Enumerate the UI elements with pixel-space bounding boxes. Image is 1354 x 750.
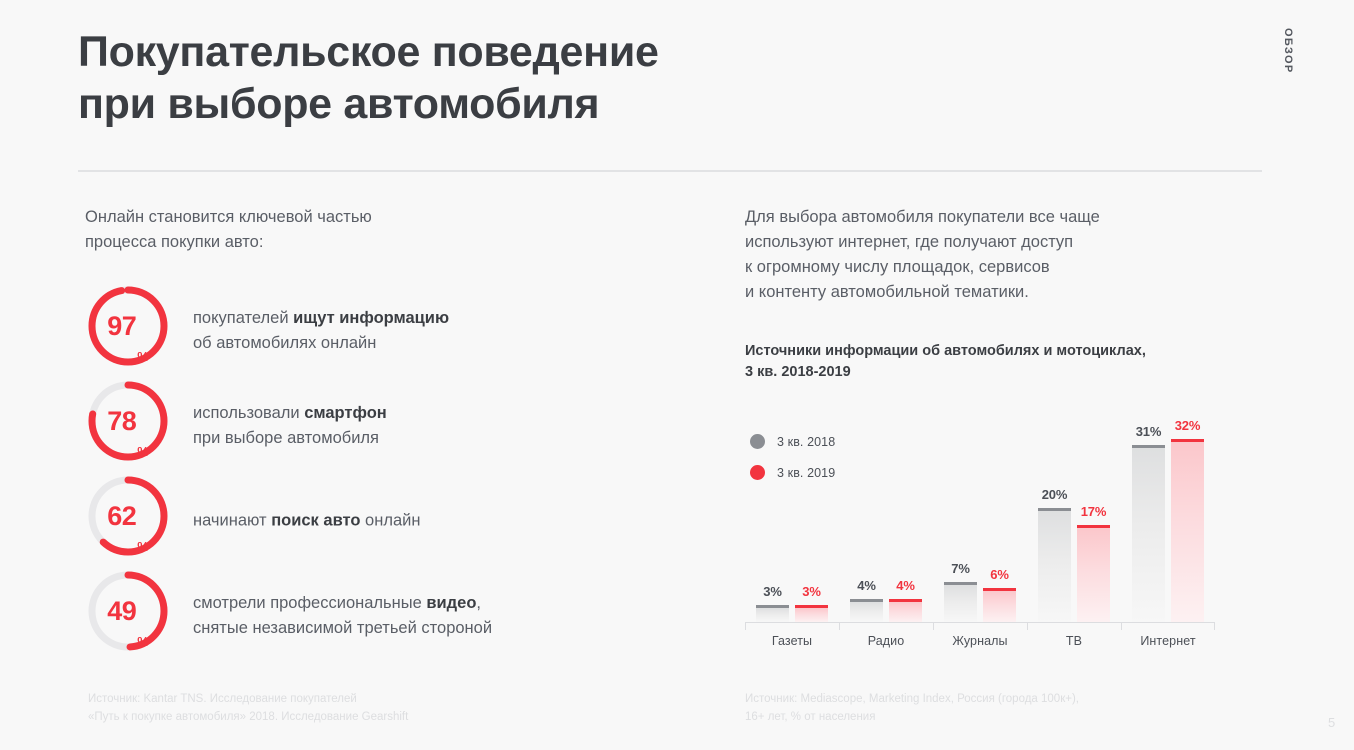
bar-value-label: 20%: [1031, 487, 1078, 502]
bar: 3%: [756, 605, 789, 622]
page-title: Покупательское поведение при выборе авто…: [78, 26, 978, 130]
stat-description: смотрели профессиональные видео,снятые н…: [193, 591, 693, 641]
bar-group: 4%4%: [839, 398, 933, 622]
right-column: Для выбора автомобиля покупатели все чащ…: [745, 205, 1265, 305]
bar: 6%: [983, 588, 1016, 622]
header-divider: [78, 170, 1262, 172]
ring-percent-symbol: %: [137, 349, 149, 364]
x-axis-tick: [839, 622, 840, 630]
stat-description: начинают поиск авто онлайн: [193, 508, 693, 533]
bar-body: [944, 585, 977, 622]
ring-label: 78%: [85, 378, 171, 464]
left-column: Онлайн становится ключевой частью процес…: [85, 205, 685, 255]
bar-body: [1132, 448, 1165, 622]
ring-label: 97%: [85, 283, 171, 369]
bar-body: [983, 591, 1016, 622]
bar-body: [1038, 511, 1071, 622]
ring-label: 49%: [85, 568, 171, 654]
bar-chart: 3 кв. 20183 кв. 2019 3%3%4%4%7%6%20%17%3…: [745, 398, 1215, 653]
x-axis-tick: [1214, 622, 1215, 630]
category-label: Радио: [839, 634, 933, 648]
bar-body: [850, 602, 883, 622]
ring-percent-symbol: %: [137, 444, 149, 459]
section-tag: ОБЗОР: [1282, 28, 1294, 73]
stats-list: 97%покупателей ищут информациюоб автомоб…: [85, 283, 705, 663]
bar-cap: [795, 605, 828, 608]
x-axis-tick: [1027, 622, 1028, 630]
ring-value: 49: [107, 596, 136, 627]
stat-row: 62%начинают поиск авто онлайн: [85, 473, 705, 568]
bar-cap: [850, 599, 883, 602]
stat-row: 97%покупателей ищут информациюоб автомоб…: [85, 283, 705, 378]
bar-group: 20%17%: [1027, 398, 1121, 622]
bar: 32%: [1171, 439, 1204, 622]
bar-group: 31%32%: [1121, 398, 1215, 622]
ring-value: 97: [107, 311, 136, 342]
right-footnote: Источник: Mediascope, Marketing Index, Р…: [745, 690, 1265, 726]
bar-body: [795, 608, 828, 622]
category-label: ТВ: [1027, 634, 1121, 648]
x-axis-tick: [745, 622, 746, 630]
left-footnote: Источник: Kantar TNS. Исследование покуп…: [88, 690, 608, 726]
bar-value-label: 4%: [882, 578, 929, 593]
bar: 4%: [850, 599, 883, 622]
bar-cap: [1077, 525, 1110, 528]
lead-text: Онлайн становится ключевой частью процес…: [85, 205, 685, 255]
bar-cap: [983, 588, 1016, 591]
bar-value-label: 17%: [1070, 504, 1117, 519]
bar: 17%: [1077, 525, 1110, 622]
stat-description: использовали смартфонпри выборе автомоби…: [193, 401, 693, 451]
category-label: Журналы: [933, 634, 1027, 648]
bar-body: [756, 608, 789, 622]
bar: 31%: [1132, 445, 1165, 622]
bar: 3%: [795, 605, 828, 622]
chart-title: Источники информации об автомобилях и мо…: [745, 341, 1245, 383]
ring-label: 62%: [85, 473, 171, 559]
bar-value-label: 32%: [1164, 418, 1211, 433]
bar-cap: [889, 599, 922, 602]
page-number: 5: [1328, 715, 1335, 730]
bar-cap: [1171, 439, 1204, 442]
ring-percent-symbol: %: [137, 634, 149, 649]
stat-row: 78%использовали смартфонпри выборе автом…: [85, 378, 705, 473]
x-axis-tick: [1121, 622, 1122, 630]
bar-value-label: 3%: [788, 584, 835, 599]
bar: 7%: [944, 582, 977, 622]
x-axis-line: [745, 622, 1215, 623]
intro-text: Для выбора автомобиля покупатели все чащ…: [745, 205, 1265, 305]
stat-description: покупателей ищут информациюоб автомобиля…: [193, 306, 693, 356]
bar-body: [1077, 528, 1110, 622]
bar-cap: [1132, 445, 1165, 448]
bar-body: [889, 602, 922, 622]
bar-group: 3%3%: [745, 398, 839, 622]
bar-cap: [944, 582, 977, 585]
stat-row: 49%смотрели профессиональные видео,сняты…: [85, 568, 705, 663]
ring-value: 62: [107, 501, 136, 532]
ring-value: 78: [107, 406, 136, 437]
bar: 4%: [889, 599, 922, 622]
donut-ring: 49%: [85, 568, 171, 654]
category-label: Газеты: [745, 634, 839, 648]
bar: 20%: [1038, 508, 1071, 622]
bar-value-label: 6%: [976, 567, 1023, 582]
ring-percent-symbol: %: [137, 539, 149, 554]
x-axis-tick: [933, 622, 934, 630]
donut-ring: 78%: [85, 378, 171, 464]
donut-ring: 97%: [85, 283, 171, 369]
slide: Покупательское поведение при выборе авто…: [0, 0, 1354, 750]
donut-ring: 62%: [85, 473, 171, 559]
bar-body: [1171, 442, 1204, 622]
bar-cap: [1038, 508, 1071, 511]
category-label: Интернет: [1121, 634, 1215, 648]
bar-group: 7%6%: [933, 398, 1027, 622]
bar-cap: [756, 605, 789, 608]
chart-plot-area: 3%3%4%4%7%6%20%17%31%32%: [745, 398, 1215, 622]
